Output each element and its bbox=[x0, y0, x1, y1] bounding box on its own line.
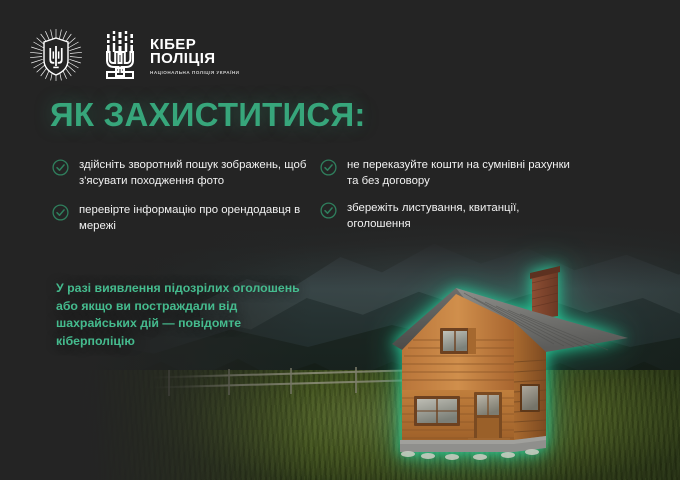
log-cabin-illustration bbox=[382, 252, 634, 460]
list-item: не переказуйте кошти на сумнівні рахунки… bbox=[320, 158, 570, 189]
logo-group: КІБЕР ПОЛІЦІЯ НАЦІОНАЛЬНА ПОЛІЦІЯ УКРАЇН… bbox=[28, 26, 239, 84]
side-window bbox=[520, 384, 540, 412]
attic-window bbox=[440, 328, 476, 354]
check-circle-icon bbox=[52, 204, 69, 221]
page-title: ЯК ЗАХИСТИТИСЯ: bbox=[50, 96, 366, 134]
check-circle-icon bbox=[52, 159, 69, 176]
national-police-emblem bbox=[28, 26, 84, 84]
check-circle-icon bbox=[320, 202, 337, 219]
cyberpolice-wordmark: КІБЕР ПОЛІЦІЯ НАЦІОНАЛЬНА ПОЛІЦІЯ УКРАЇН… bbox=[150, 35, 239, 76]
front-window bbox=[414, 396, 460, 426]
cyberpolice-logo: КІБЕР ПОЛІЦІЯ НАЦІОНАЛЬНА ПОЛІЦІЯ УКРАЇН… bbox=[98, 29, 239, 81]
list-item-label: перевірте інформацію про орендодавця в м… bbox=[79, 203, 310, 234]
advice-list-left: здійсніть зворотний пошук зображень, щоб… bbox=[52, 158, 310, 234]
front-door bbox=[474, 392, 502, 440]
check-circle-icon bbox=[320, 159, 337, 176]
list-item-label: збережіть листування, квитанції, оголоше… bbox=[347, 201, 570, 232]
cyberpolice-subtitle: НАЦІОНАЛЬНА ПОЛІЦІЯ УКРАЇНИ bbox=[150, 70, 239, 76]
list-item-label: не переказуйте кошти на сумнівні рахунки… bbox=[347, 158, 570, 189]
infographic-poster: КІБЕР ПОЛІЦІЯ НАЦІОНАЛЬНА ПОЛІЦІЯ УКРАЇН… bbox=[0, 0, 680, 480]
callout-text: У разі виявлення підозрілих оголошень аб… bbox=[56, 280, 308, 350]
list-item-label: здійсніть зворотний пошук зображень, щоб… bbox=[79, 158, 310, 189]
list-item: збережіть листування, квитанції, оголоше… bbox=[320, 201, 570, 232]
advice-list-right: не переказуйте кошти на сумнівні рахунки… bbox=[320, 158, 570, 232]
list-item: здійсніть зворотний пошук зображень, щоб… bbox=[52, 158, 310, 189]
cyberpolice-line2: ПОЛІЦІЯ bbox=[150, 52, 239, 67]
list-item: перевірте інформацію про орендодавця в м… bbox=[52, 203, 310, 234]
cyberpolice-trident-mark bbox=[98, 29, 142, 81]
